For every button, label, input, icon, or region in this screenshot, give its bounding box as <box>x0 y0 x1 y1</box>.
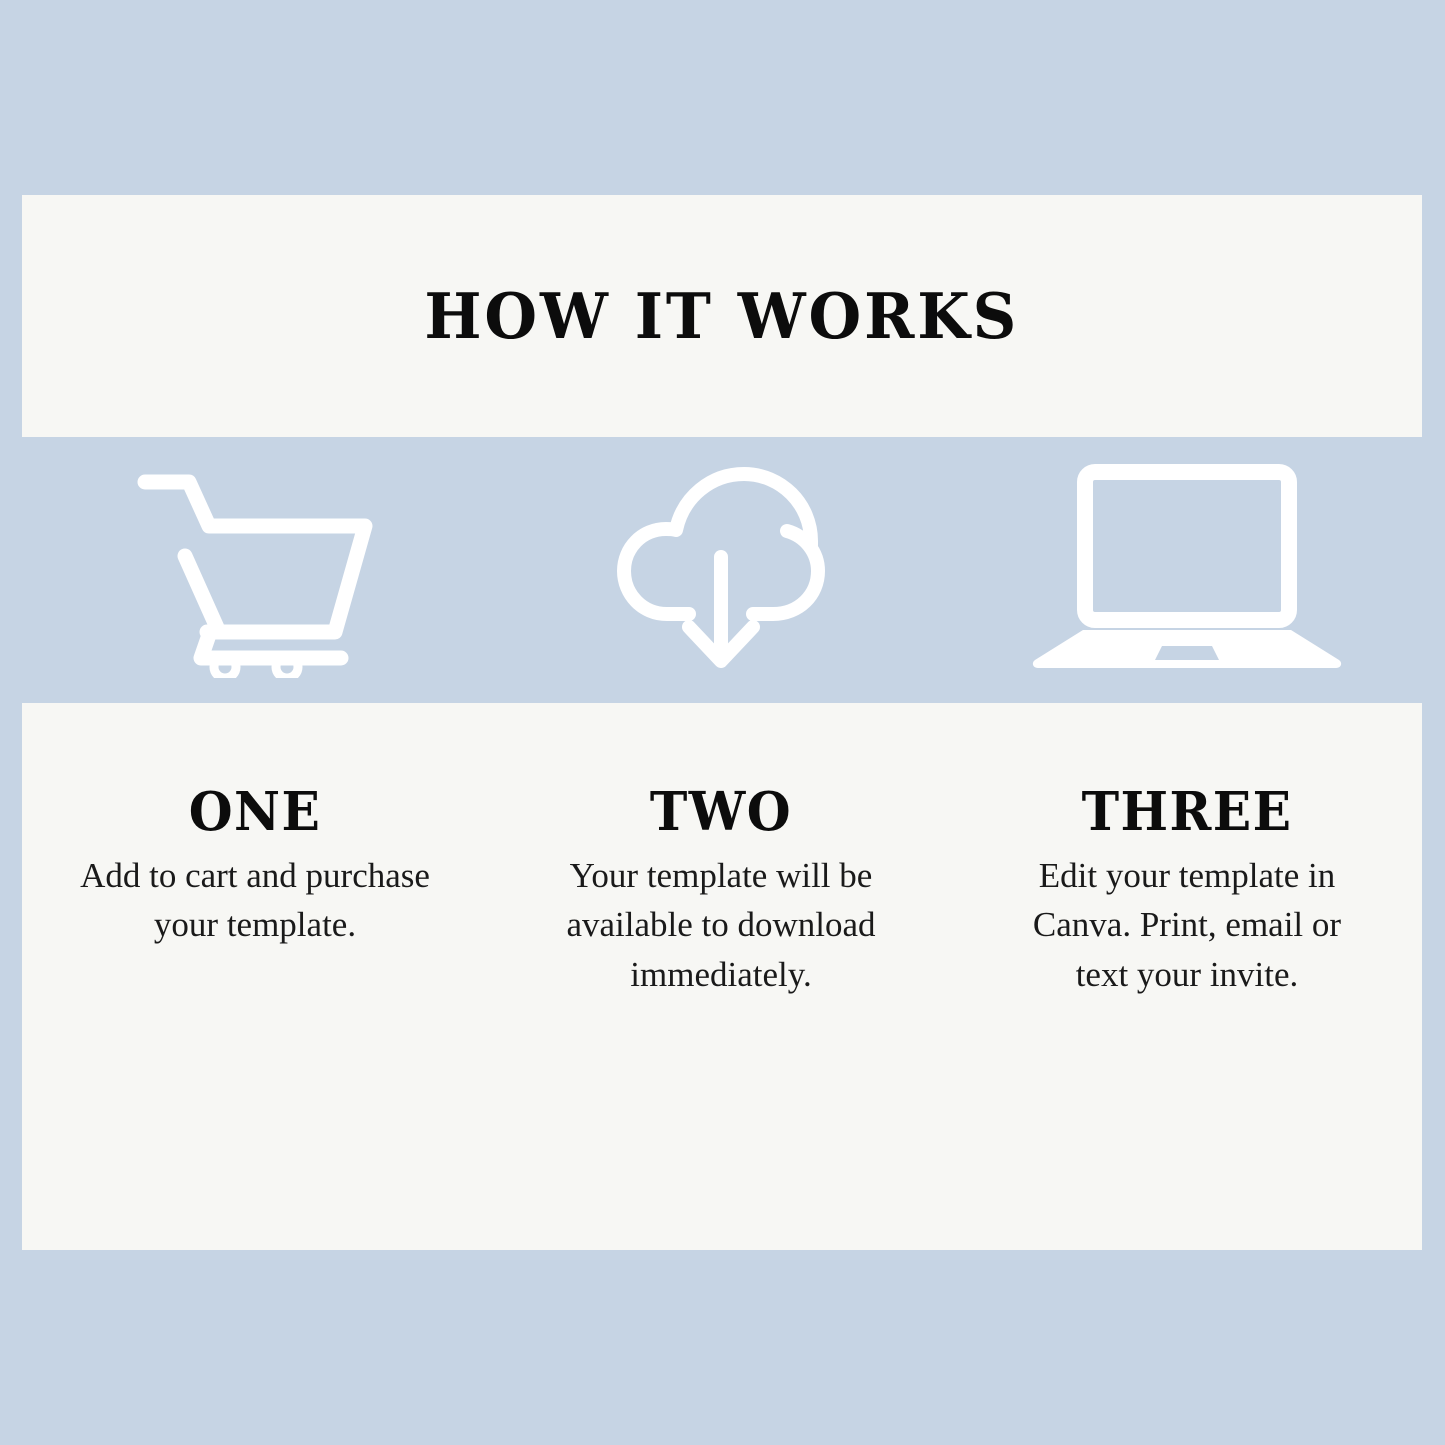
step-one: ONE Add to cart and purchase your templa… <box>22 703 488 950</box>
poster-canvas: HOW IT WORKS <box>0 0 1445 1445</box>
icon-cell-two <box>488 437 954 703</box>
cloud-download-icon <box>615 464 827 676</box>
step-two: TWO Your template will be available to d… <box>488 703 954 1000</box>
step-three: THREE Edit your template in Canva. Print… <box>954 703 1420 1000</box>
step-two-body: Your template will be available to downl… <box>546 851 896 1000</box>
laptop-icon <box>1027 464 1347 676</box>
step-three-title: THREE <box>966 785 1409 841</box>
icon-cell-one <box>22 437 488 703</box>
shopping-cart-icon <box>137 462 373 678</box>
icon-band <box>22 437 1422 703</box>
steps-panel: ONE Add to cart and purchase your templa… <box>22 703 1422 1250</box>
step-one-body: Add to cart and purchase your template. <box>55 851 455 950</box>
step-one-title: ONE <box>34 785 477 841</box>
icon-cell-three <box>954 437 1420 703</box>
header-panel: HOW IT WORKS <box>22 195 1422 437</box>
page-title: HOW IT WORKS <box>425 285 1020 348</box>
step-two-title: TWO <box>500 785 943 841</box>
step-three-body: Edit your template in Canva. Print, emai… <box>1012 851 1362 1000</box>
